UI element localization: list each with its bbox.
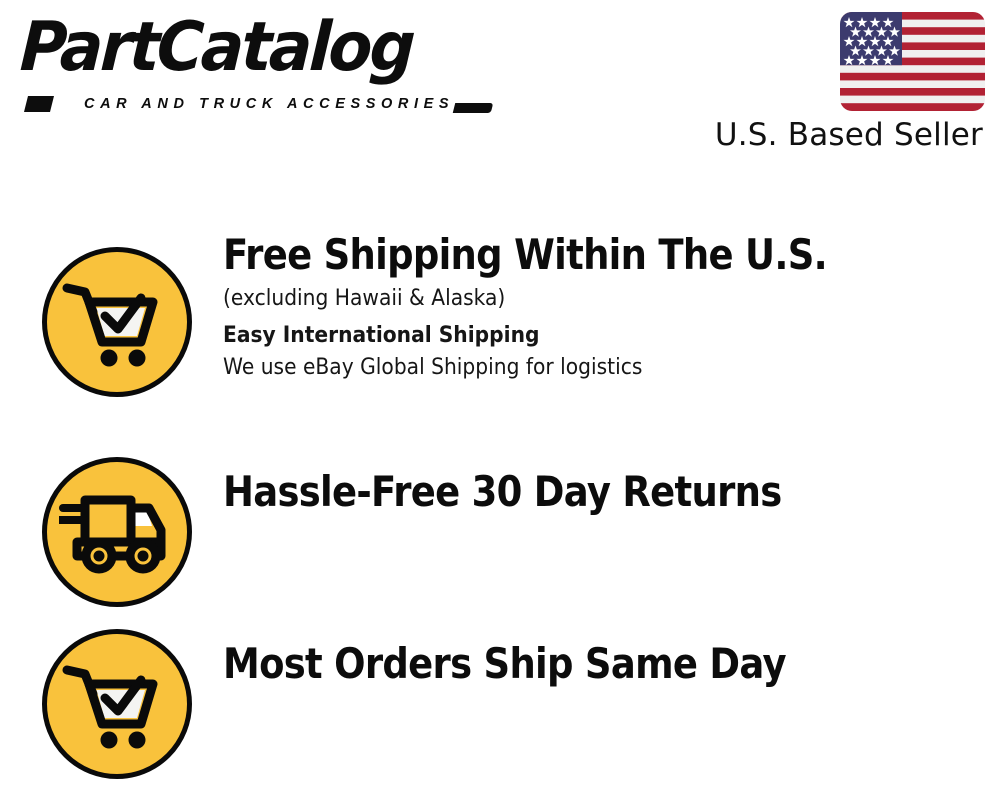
benefit-row: Hassle-Free 30 Day Returns — [0, 419, 1000, 591]
logo-stroke-left — [24, 96, 54, 112]
delivery-truck-icon — [42, 457, 192, 607]
benefit-title: Most Orders Ship Same Day — [223, 637, 889, 691]
benefit-text-block: Hassle-Free 30 Day Returns — [223, 465, 980, 519]
benefit-title: Hassle-Free 30 Day Returns — [223, 465, 889, 519]
benefit-subline: (excluding Hawaii & Alaska) — [223, 283, 919, 314]
shopping-cart-check-icon — [42, 247, 192, 397]
brand-wordmark: PartCatalog — [19, 14, 415, 82]
shopping-cart-check-icon — [42, 629, 192, 779]
brand-tagline: CAR AND TRUCK ACCESSORIES — [84, 96, 454, 112]
benefit-subline: Easy International Shipping — [223, 320, 919, 351]
benefit-title: Free Shipping Within The U.S. — [223, 228, 889, 282]
benefit-subline: We use eBay Global Shipping for logistic… — [223, 352, 919, 383]
benefit-text-block: Most Orders Ship Same Day — [223, 637, 980, 691]
us-based-seller-label: U.S. Based Seller — [715, 117, 983, 153]
logo-stroke-right — [453, 103, 493, 113]
benefit-row: Free Shipping Within The U.S. (excluding… — [0, 228, 1000, 418]
us-flag-icon — [840, 12, 985, 111]
benefit-text-block: Free Shipping Within The U.S. (excluding… — [223, 228, 980, 383]
page-header: PartCatalog CAR AND TRUCK ACCESSORIES — [0, 0, 1000, 170]
brand-logo[interactable]: PartCatalog CAR AND TRUCK ACCESSORIES — [22, 20, 492, 115]
benefit-row: Most Orders Ship Same Day — [0, 591, 1000, 763]
